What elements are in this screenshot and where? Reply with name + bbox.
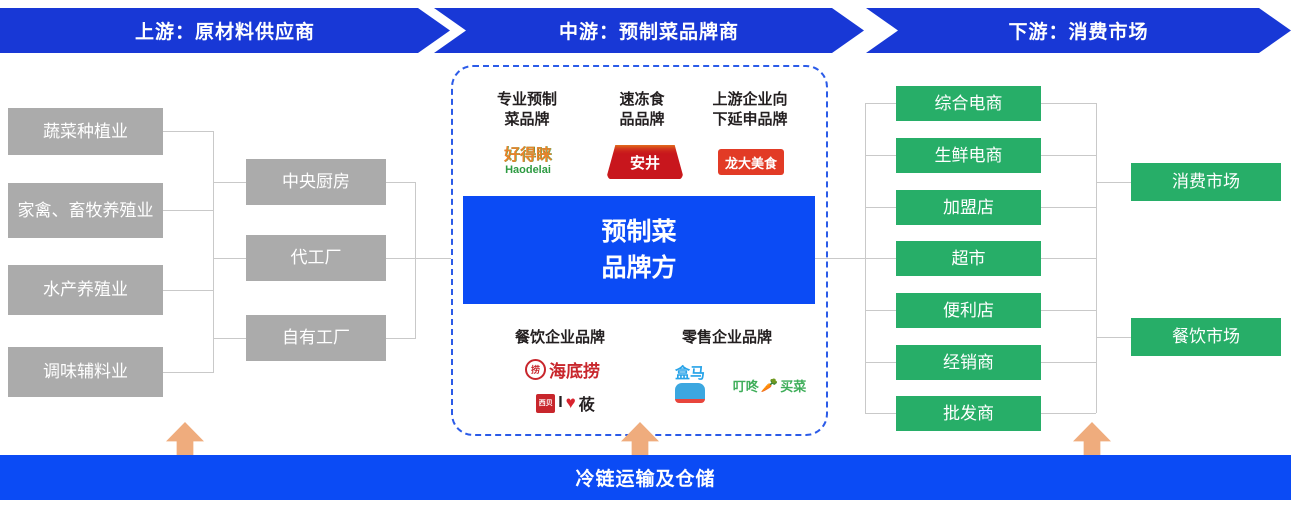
connector-line (1041, 310, 1096, 311)
cold-chain-label: 冷链运输及仓储 (575, 464, 715, 491)
connector-line (163, 372, 213, 373)
connector-line (386, 258, 451, 259)
connector-line (1041, 103, 1096, 104)
header-midstream: 中游：预制菜品牌商 (434, 8, 864, 53)
connector-line (213, 131, 214, 373)
node-poultry-livestock[interactable]: 家禽、畜牧养殖业 (8, 183, 163, 238)
connector-line (213, 338, 246, 339)
node-label: 批发商 (943, 403, 994, 424)
node-label: 便利店 (943, 300, 994, 321)
logo-hema-cn: 盒马 (675, 366, 705, 381)
connector-line (865, 362, 896, 363)
connector-line (213, 258, 246, 259)
connector-line (1041, 258, 1096, 259)
header-midstream-label: 中游：预制菜品牌商 (559, 17, 739, 44)
center-label-line2: 品牌方 (601, 250, 676, 286)
header-downstream: 下游：消费市场 (866, 8, 1291, 53)
connector-line (865, 155, 896, 156)
node-catering-market[interactable]: 餐饮市场 (1131, 318, 1281, 356)
connector-line (1041, 155, 1096, 156)
node-fresh-ecommerce[interactable]: 生鲜电商 (896, 138, 1041, 173)
logo-hema: 盒马 (660, 362, 720, 406)
connector-line (213, 182, 246, 183)
logo-haidilao: 捞 海底捞 (500, 356, 625, 382)
category-label: 零售企业品牌 (682, 329, 772, 346)
node-label: 代工厂 (291, 247, 342, 268)
node-distributor[interactable]: 经销商 (896, 345, 1041, 380)
category-upstream-extension: 上游企业向 下延申品牌 (690, 90, 810, 129)
node-label: 经销商 (943, 352, 994, 373)
connector-line (865, 413, 896, 414)
node-central-kitchen[interactable]: 中央厨房 (246, 159, 386, 205)
logo-haodelai: 好得睐 Haodelai (478, 142, 578, 182)
category-professional-prepared-dish: 专业预制 菜品牌 (472, 90, 582, 129)
category-catering-enterprise-brand: 餐饮企业品牌 (495, 328, 625, 348)
category-label-line2: 下延申品牌 (690, 110, 810, 130)
node-label: 综合电商 (935, 93, 1003, 114)
node-convenience-store[interactable]: 便利店 (896, 293, 1041, 328)
connector-line (386, 338, 415, 339)
logo-haodelai-cn: 好得睐 (504, 148, 552, 164)
connector-line (815, 258, 865, 259)
node-label: 家禽、畜牧养殖业 (18, 200, 154, 221)
logo-longda-mark: 龙大美食 (718, 149, 784, 175)
logo-xibei-tail: 莜 (579, 391, 595, 415)
category-label-line1: 上游企业向 (690, 90, 810, 110)
connector-line (865, 310, 896, 311)
connector-line (386, 182, 415, 183)
connector-line (163, 210, 213, 211)
node-label: 调味辅料业 (43, 361, 128, 382)
node-label: 餐饮市场 (1172, 326, 1240, 347)
node-label: 蔬菜种植业 (43, 121, 128, 142)
node-seasoning-ingredients[interactable]: 调味辅料业 (8, 347, 163, 397)
heart-icon: ♥ (566, 393, 576, 413)
connector-line (1096, 182, 1131, 183)
node-label: 自有工厂 (282, 327, 350, 348)
connector-line (865, 258, 896, 259)
node-vegetable-farming[interactable]: 蔬菜种植业 (8, 108, 163, 155)
node-supermarket[interactable]: 超市 (896, 241, 1041, 276)
logo-dingdong-b: 买菜 (780, 376, 806, 395)
node-oem-factory[interactable]: 代工厂 (246, 235, 386, 281)
header-downstream-label: 下游：消费市场 (1008, 17, 1148, 44)
connector-line (1096, 337, 1131, 338)
logo-haodelai-en: Haodelai (505, 165, 551, 176)
category-label-line1: 专业预制 (472, 90, 582, 110)
connector-line (865, 207, 896, 208)
category-label-line2: 菜品牌 (472, 110, 582, 130)
connector-line (1041, 207, 1096, 208)
category-label-line2: 品品牌 (592, 110, 692, 130)
logo-dingdong-a: 叮咚 (733, 376, 759, 395)
node-label: 加盟店 (943, 197, 994, 218)
logo-haidilao-cn: 海底捞 (549, 357, 600, 382)
logo-anjoy: 安井 (600, 142, 690, 182)
logo-longda: 龙大美食 (706, 144, 796, 180)
node-label: 超市 (952, 248, 986, 269)
category-retail-enterprise-brand: 零售企业品牌 (662, 328, 792, 348)
connector-line (415, 182, 416, 339)
node-label: 生鲜电商 (935, 145, 1003, 166)
category-frozen-food: 速冻食 品品牌 (592, 90, 692, 129)
header-upstream-label: 上游：原材料供应商 (135, 17, 315, 44)
node-own-factory[interactable]: 自有工厂 (246, 315, 386, 361)
node-aquaculture[interactable]: 水产养殖业 (8, 265, 163, 315)
node-franchise-store[interactable]: 加盟店 (896, 190, 1041, 225)
hippo-icon (675, 383, 705, 403)
connector-line (1041, 362, 1096, 363)
connector-line (163, 131, 213, 132)
logo-haidilao-ring: 捞 (525, 359, 546, 380)
node-label: 消费市场 (1172, 171, 1240, 192)
center-label-line1: 预制菜 (601, 214, 676, 250)
connector-line (163, 290, 213, 291)
connector-line (1041, 413, 1096, 414)
radish-icon: 🥕 (761, 377, 778, 394)
category-label: 餐饮企业品牌 (515, 329, 605, 346)
logo-dingdong: 叮咚 🥕 买菜 (722, 372, 817, 398)
logo-xibei-text: I (558, 394, 562, 412)
logo-anjoy-mark: 安井 (606, 145, 684, 179)
logo-xibei-mark: 西贝 (536, 394, 555, 413)
connector-line (865, 103, 896, 104)
header-upstream: 上游：原材料供应商 (0, 8, 450, 53)
node-wholesaler[interactable]: 批发商 (896, 396, 1041, 431)
node-comprehensive-ecommerce[interactable]: 综合电商 (896, 86, 1041, 121)
industry-chain-diagram: 上游：原材料供应商 中游：预制菜品牌商 下游：消费市场 蔬菜种植业 家禽、畜牧养… (0, 0, 1291, 506)
logo-xibei: 西贝 I ♥ 莜 (503, 390, 628, 416)
node-prepared-dish-brand-owner[interactable]: 预制菜 品牌方 (463, 196, 815, 304)
category-label-line1: 速冻食 (592, 90, 692, 110)
node-label: 中央厨房 (282, 171, 350, 192)
node-label: 水产养殖业 (43, 279, 128, 300)
connector-line (1096, 103, 1097, 413)
cold-chain-bar: 冷链运输及仓储 (0, 455, 1291, 500)
node-consumer-market[interactable]: 消费市场 (1131, 163, 1281, 201)
